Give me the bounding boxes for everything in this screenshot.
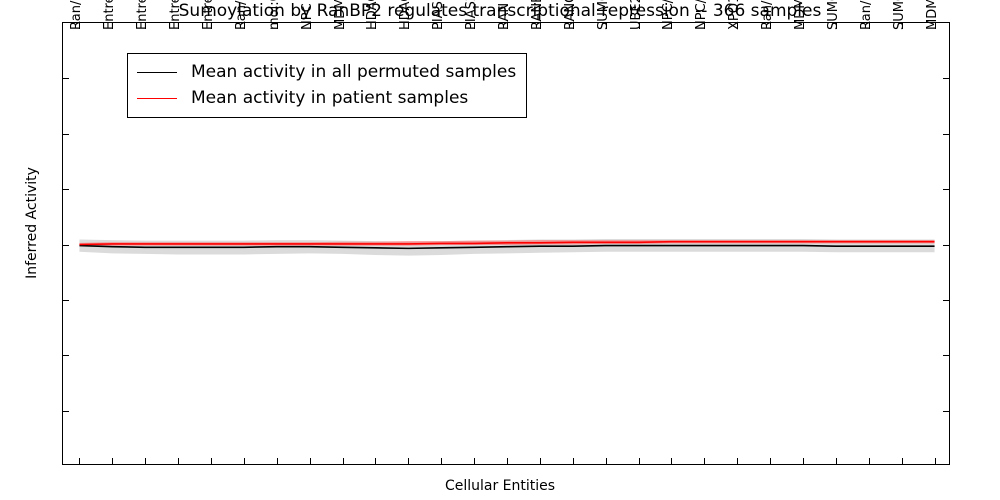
x-tick-mark: [375, 458, 376, 464]
x-tick-mark-top: [935, 23, 936, 29]
x-tick-mark: [277, 458, 278, 464]
x-tick-mark: [803, 458, 804, 464]
x-tick-mark-top: [704, 23, 705, 29]
x-tick-mark-top: [737, 23, 738, 29]
x-tick-mark-top: [639, 23, 640, 29]
y-tick-mark-right: [943, 411, 949, 412]
x-tick-mark: [474, 458, 475, 464]
x-tick-mark-top: [573, 23, 574, 29]
legend-item-patient: Mean activity in patient samples: [137, 85, 516, 111]
x-tick-mark-top: [79, 23, 80, 29]
legend-swatch-patient: [137, 98, 177, 99]
x-tick-mark: [79, 458, 80, 464]
x-tick-mark: [671, 458, 672, 464]
x-tick-mark-top: [375, 23, 376, 29]
y-tick-mark-right: [943, 189, 949, 190]
legend-item-permuted: Mean activity in all permuted samples: [137, 59, 516, 85]
x-tick-mark-top: [178, 23, 179, 29]
x-tick-mark-top: [474, 23, 475, 29]
x-tick-mark: [310, 458, 311, 464]
x-tick-mark: [704, 458, 705, 464]
y-tick-mark: [63, 78, 69, 79]
x-tick-mark: [540, 458, 541, 464]
x-tick-mark-top: [869, 23, 870, 29]
x-tick-mark: [606, 458, 607, 464]
x-tick-mark: [441, 458, 442, 464]
x-tick-mark-top: [277, 23, 278, 29]
y-tick-mark-right: [943, 300, 949, 301]
x-tick-mark-top: [803, 23, 804, 29]
x-tick-mark: [145, 458, 146, 464]
x-tick-mark: [902, 458, 903, 464]
x-tick-mark-top: [902, 23, 903, 29]
x-tick-mark: [869, 458, 870, 464]
x-tick-mark: [935, 458, 936, 464]
y-tick-mark: [63, 300, 69, 301]
x-tick-mark-top: [112, 23, 113, 29]
chart-figure: Sumoylation by RanBP2 regulates transcri…: [0, 0, 1000, 500]
x-tick-mark-top: [145, 23, 146, 29]
x-tick-mark: [408, 458, 409, 464]
legend-label-permuted: Mean activity in all permuted samples: [191, 63, 516, 81]
x-tick-mark-top: [310, 23, 311, 29]
x-axis-title: Cellular Entities: [0, 478, 1000, 494]
y-axis-title: Inferred Activity: [24, 3, 40, 443]
x-tick-mark-top: [540, 23, 541, 29]
x-tick-mark-top: [507, 23, 508, 29]
x-tick-mark-top: [408, 23, 409, 29]
y-tick-mark-right: [943, 355, 949, 356]
x-tick-mark: [836, 458, 837, 464]
chart-legend: Mean activity in all permuted samples Me…: [127, 53, 527, 118]
x-tick-mark: [639, 458, 640, 464]
x-tick-mark-top: [671, 23, 672, 29]
x-tick-mark-top: [441, 23, 442, 29]
y-tick-mark: [63, 189, 69, 190]
y-tick-mark-right: [943, 134, 949, 135]
legend-swatch-permuted: [137, 72, 177, 73]
x-tick-mark: [343, 458, 344, 464]
x-tick-mark: [770, 458, 771, 464]
x-tick-mark: [244, 458, 245, 464]
chart-title: Sumoylation by RanBP2 regulates transcri…: [0, 1, 1000, 21]
y-tick-mark: [63, 134, 69, 135]
x-tick-mark: [507, 458, 508, 464]
x-tick-mark-top: [606, 23, 607, 29]
x-tick-mark-top: [343, 23, 344, 29]
y-tick-mark: [63, 411, 69, 412]
legend-label-patient: Mean activity in patient samples: [191, 89, 468, 107]
x-tick-mark-top: [770, 23, 771, 29]
x-tick-mark: [737, 458, 738, 464]
x-tick-mark-top: [836, 23, 837, 29]
x-tick-mark-top: [244, 23, 245, 29]
y-tick-mark: [63, 245, 69, 246]
x-tick-mark: [178, 458, 179, 464]
y-tick-mark-right: [943, 245, 949, 246]
plot-area: Mean activity in all permuted samples Me…: [62, 22, 950, 465]
y-tick-mark-right: [943, 78, 949, 79]
x-tick-mark: [573, 458, 574, 464]
x-tick-mark: [112, 458, 113, 464]
y-tick-mark: [63, 355, 69, 356]
x-tick-mark-top: [211, 23, 212, 29]
x-tick-mark: [211, 458, 212, 464]
